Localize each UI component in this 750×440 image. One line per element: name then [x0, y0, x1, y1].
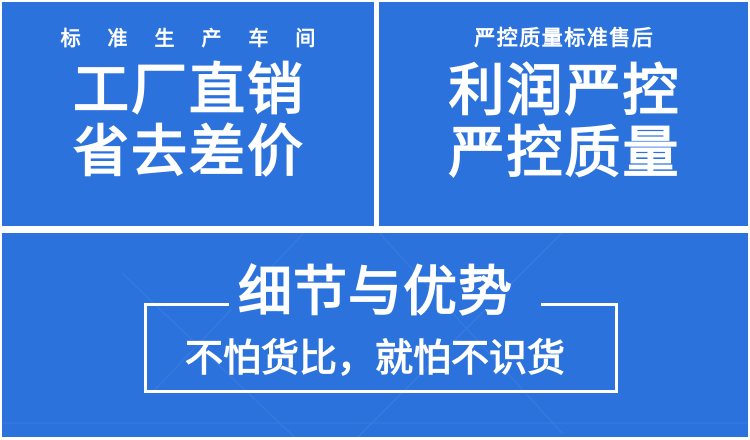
panel-factory-direct-headline-line-2: 省去差价 [71, 124, 305, 182]
panel-quality-control-headline-line-2: 严控质量 [447, 125, 681, 183]
details-advantages-subtitle: 不怕货比，就怕不识货 [2, 339, 748, 377]
panel-factory-direct-headline-line-1: 工厂直销 [71, 62, 305, 120]
panel-factory-direct-eyebrow: 标 准 生 产 车 间 [51, 28, 326, 48]
panel-factory-direct-content: 标 准 生 产 车 间 工厂直销 省去差价 [2, 2, 374, 226]
panel-quality-control: 严控质量标准售后 利润严控 严控质量 [379, 2, 748, 226]
panel-factory-direct: 标 准 生 产 车 间 工厂直销 省去差价 [2, 2, 374, 226]
panel-quality-control-eyebrow: 严控质量标准售后 [473, 28, 655, 49]
promo-banner: 标 准 生 产 车 间 工厂直销 省去差价 严控质量标准售后 利润严控 严控质量… [0, 0, 750, 440]
panel-quality-control-content: 严控质量标准售后 利润严控 严控质量 [379, 2, 748, 226]
details-advantages-title: 细节与优势 [2, 265, 748, 319]
panel-quality-control-headline-line-1: 利润严控 [447, 63, 681, 121]
panel-details-advantages: 细节与优势 不怕货比，就怕不识货 [2, 233, 748, 437]
